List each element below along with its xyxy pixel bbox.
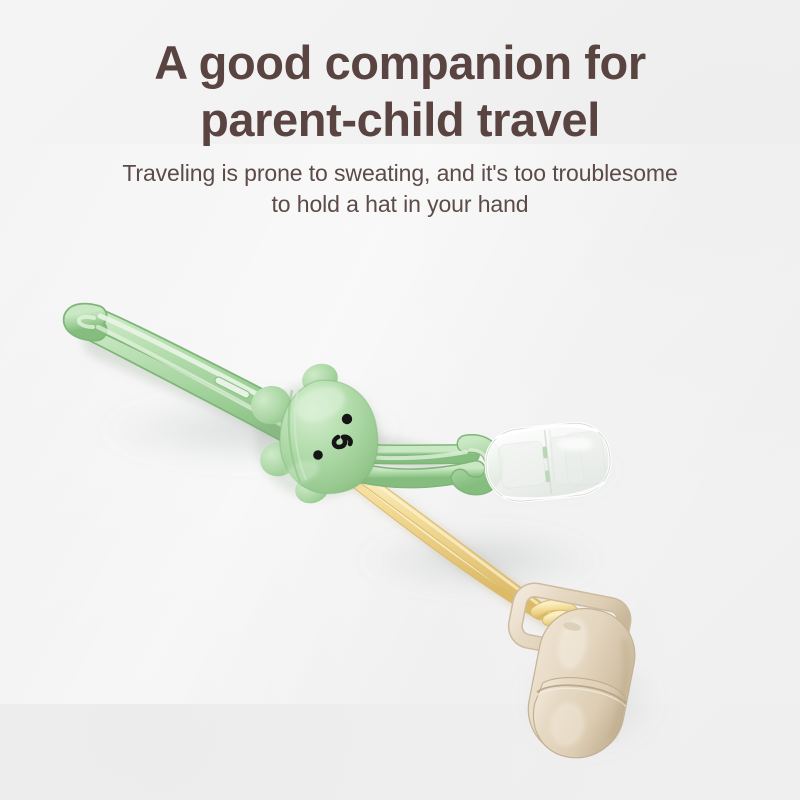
page-title: A good companion for parent-child travel — [0, 34, 800, 148]
bear-eye-left — [313, 450, 323, 460]
page-subtitle: Traveling is prone to sweating, and it's… — [0, 158, 800, 220]
bear-eye-right — [342, 414, 352, 424]
product-banner: A good companion for parent-child travel… — [0, 0, 800, 800]
headline-block: A good companion for parent-child travel… — [0, 34, 800, 220]
clear-clip — [483, 420, 614, 505]
